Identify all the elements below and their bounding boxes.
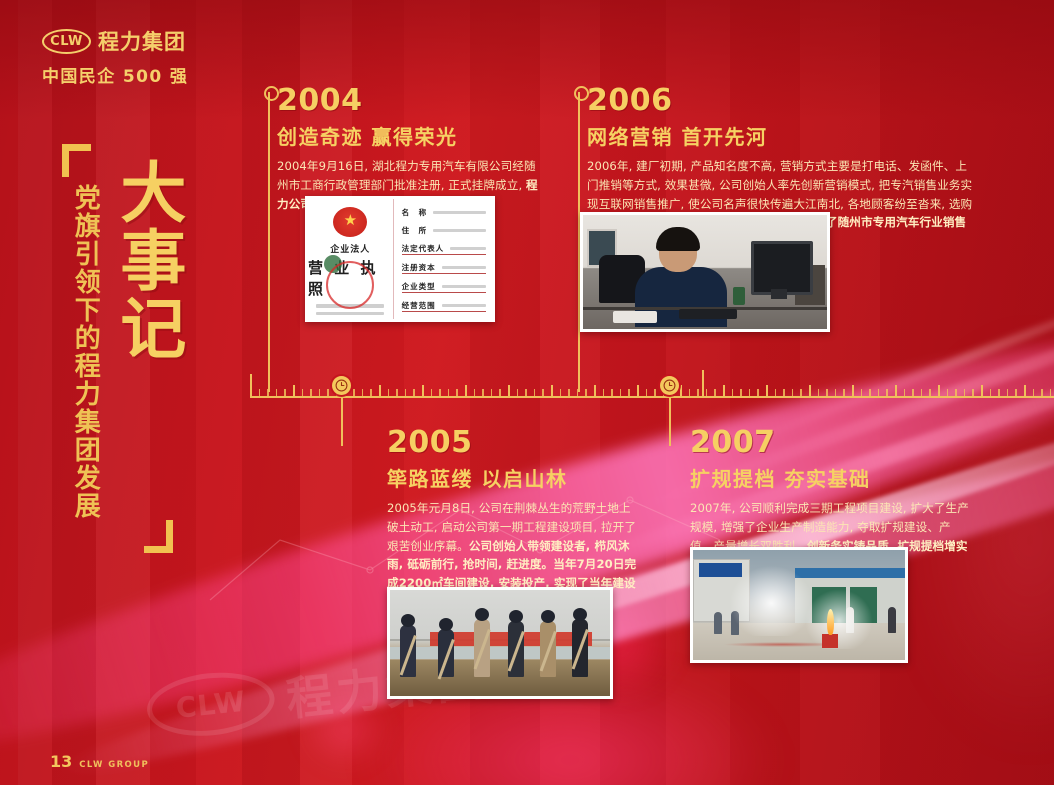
ruler-tick [585,389,587,396]
entry-headline-2007: 扩规提档 夯实基础 [690,467,970,491]
ruler-tick [637,385,639,396]
entry-headline-2005: 筚路蓝缕 以启山林 [387,467,637,491]
ruler-tick [955,389,957,396]
license-field-key: 注册资本 [402,262,436,273]
license-field: 企业类型 [402,281,486,293]
ruler-tick [319,389,321,396]
ruler-tick [904,389,906,396]
license-field-key: 法定代表人 [402,243,445,254]
flame-icon [827,609,834,635]
ruler-tick [818,389,820,396]
firecracker-debris [723,642,842,647]
spade-icon [400,635,417,675]
page-title: 大事记 [114,158,181,362]
ruler-tick [474,389,476,396]
ruler-tick [465,385,467,396]
ruler-tick [250,385,252,396]
ruler-tick [370,389,372,396]
logo-tagline: 中国民企 500 强 [42,62,188,87]
ruler-tick [534,389,536,396]
license-field: 住 所 [402,225,486,236]
entry-year-2007: 2007 [690,428,970,458]
license-field-value [442,266,486,269]
ruler-tick [1007,389,1009,396]
ruler-tick [990,389,992,396]
license-field-key: 企业类型 [402,281,436,292]
entry-year-2004: 2004 [277,86,547,116]
ruler-tick [327,389,329,396]
ruler-tick [508,385,510,396]
ruler-tick [792,389,794,396]
factory-celebration-photo [690,547,908,663]
worker-head [573,608,587,621]
ruler-tick [422,385,424,396]
ruler-tick [1041,389,1043,396]
smoke-cloud-2 [803,587,875,649]
spade-icon [474,629,491,669]
vertical-title: 大事记 党旗引领下的程力集团发展 [52,140,202,580]
ruler-tick [456,389,458,396]
license-field-key: 经营范围 [402,300,436,311]
clock-icon-2005 [332,376,351,395]
worker-figure [438,629,454,677]
license-left-page: 企业法人 营 业 执 照 [308,199,394,319]
entry-headline-2004: 创造奇迹 赢得荣光 [277,125,547,149]
ruler-tick [482,389,484,396]
ruler-tick [800,389,802,396]
computer-monitor [751,241,813,295]
ruler-tick [740,389,742,396]
ruler-tick [379,385,381,396]
ruler-tick [362,389,364,396]
clw-logo-icon: CLW [42,29,91,54]
license-field-value [442,304,486,307]
photo-content [693,550,905,660]
ruler-tick [1015,389,1017,396]
ruler-tick [1033,389,1035,396]
ruler-tick [723,385,725,396]
license-right-page: 名 称 住 所 法定代表人 注册资本 企业类型 经营范围 [394,199,492,319]
license-field: 名 称 [402,207,486,218]
ruler-tick [542,389,544,396]
ruler-tick [396,389,398,396]
ruler-tick [603,389,605,396]
license-field: 注册资本 [402,262,486,274]
ruler-tick [964,389,966,396]
clock-icon-2007 [660,376,679,395]
ruler-tick [886,389,888,396]
spade-icon [540,631,557,671]
ruler-tick [826,389,828,396]
license-field-value [442,285,486,288]
license-red-stamp-icon [326,261,374,309]
worker-figure [540,621,556,677]
bracket-bottom-right-icon [144,520,173,553]
ruler-tick [517,389,519,396]
ruler-tick [551,385,553,396]
logo-row: CLW 程力集团 [42,26,188,56]
spade-icon [508,631,525,671]
ruler-tick [697,389,699,396]
ruler-tick [405,389,407,396]
ruler-tick [620,389,622,396]
ruler-tick [809,385,811,396]
brochure-page: CLW 程力集团 CLW 程力集团 中国民企 500 强 大事记 党旗引领下的程… [0,0,1054,785]
license-field-key: 住 所 [402,225,428,236]
ruler-tick [293,385,295,396]
entry-year-2006: 2006 [587,86,977,116]
worker-head [475,608,489,621]
ruler-ticks [250,385,1054,396]
ruler-tick [448,389,450,396]
worker-head [541,610,555,623]
ruler-tick [757,389,759,396]
ruler-tick [388,389,390,396]
page-footer: 13 CLW GROUP [50,752,149,771]
ruler-tick [611,389,613,396]
worker-head [439,618,453,631]
page-footer-label: CLW GROUP [79,760,149,770]
license-field: 经营范围 [402,300,486,312]
ruler-tick [972,389,974,396]
ruler-tick [310,389,312,396]
license-row [316,312,384,316]
ruler-tick [878,389,880,396]
worker-figure [400,625,416,677]
ruler-tick [439,389,441,396]
monitor-stand [771,289,787,299]
ruler-tick [628,389,630,396]
ruler-tick [491,389,493,396]
worker-figure [474,619,490,677]
worker-head [509,610,523,623]
license-field-key: 名 称 [402,207,428,218]
page-number: 13 [50,752,72,771]
ruler-tick [714,389,716,396]
worker-figure [572,619,588,677]
person-figure [714,612,722,634]
ruler-tick [431,389,433,396]
ruler-tick [560,389,562,396]
timeline-entry-2004: 2004 创造奇迹 赢得荣光 2004年9月16日, 湖北程力专用汽车有限公司经… [277,86,547,213]
ruler-tick [749,389,751,396]
ruler-tick [929,389,931,396]
ruler-tick [706,389,708,396]
entry-year-2005: 2005 [387,428,637,458]
worker-figure [508,621,524,677]
ruler-tick [276,389,278,396]
entry-body-text-2004: 2004年9月16日, 湖北程力专用汽车有限公司经随州市工商行政管理部门批准注册… [277,159,536,192]
ruler-tick [1024,385,1026,396]
ruler-tick [259,389,261,396]
person-hair [656,227,700,251]
ruler-tick [895,385,897,396]
ruler-tick [852,385,854,396]
ruler-tick [654,389,656,396]
ruler-tick [284,389,286,396]
ruler-tick [766,385,768,396]
license-field-value [433,211,486,214]
pen-cup [733,287,745,305]
ruler-tick [912,389,914,396]
spade-icon [438,639,455,679]
page-subtitle: 党旗引领下的程力集团发展 [68,184,101,520]
ruler-tick [689,389,691,396]
ruler-tick [525,389,527,396]
timeline-entry-2005: 2005 筚路蓝缕 以启山林 2005年元月8日, 公司在荆棘丛生的荒野土地上破… [387,428,637,612]
ruler-tick [843,389,845,396]
connector-2005 [341,398,343,446]
connector-2004 [268,92,270,392]
ruler-tick [413,389,415,396]
photo-content [583,215,827,329]
ruler-tick [921,389,923,396]
ruler-tick [680,385,682,396]
ruler-tick [981,385,983,396]
online-marketing-photo [580,212,830,332]
spade-icon [572,629,589,669]
ruler-tick [732,389,734,396]
ruler-tick [1050,389,1052,396]
ruler-tick [646,389,648,396]
ruler-tick [998,389,1000,396]
ruler-tick [835,389,837,396]
brand-logo: CLW 程力集团 中国民企 500 强 [42,26,188,87]
groundbreaking-photo [387,587,613,699]
desk-papers [613,311,657,323]
ruler-tick [938,385,940,396]
logo-company-name: 程力集团 [98,26,186,56]
license-field-value [433,229,486,232]
business-license-photo: 企业法人 营 业 执 照 名 称 住 所 法定代表人 注册资本 企业类型 经营范… [305,196,495,322]
license-field-value [450,247,486,250]
keyboard [679,309,737,319]
ruler-tick [869,389,871,396]
national-emblem-icon [333,207,367,237]
worker-head [401,614,415,627]
license-field: 法定代表人 [402,243,486,255]
entry-headline-2006: 网络营销 首开先河 [587,125,977,149]
ruler-tick [861,389,863,396]
connector-2007 [669,398,671,446]
photo-content [390,590,610,696]
person-figure [888,607,896,633]
ruler-tick [775,389,777,396]
timeline-ruler [250,396,1054,397]
ruler-tick [353,389,355,396]
ruler-baseline [250,396,1054,398]
bracket-top-left-icon [62,144,91,177]
ruler-tick [568,389,570,396]
ruler-tick [783,389,785,396]
ruler-tick [499,389,501,396]
ruler-tick [947,389,949,396]
ruler-tick [302,389,304,396]
ruler-tick [594,385,596,396]
license-title-small: 企业法人 [330,242,370,255]
